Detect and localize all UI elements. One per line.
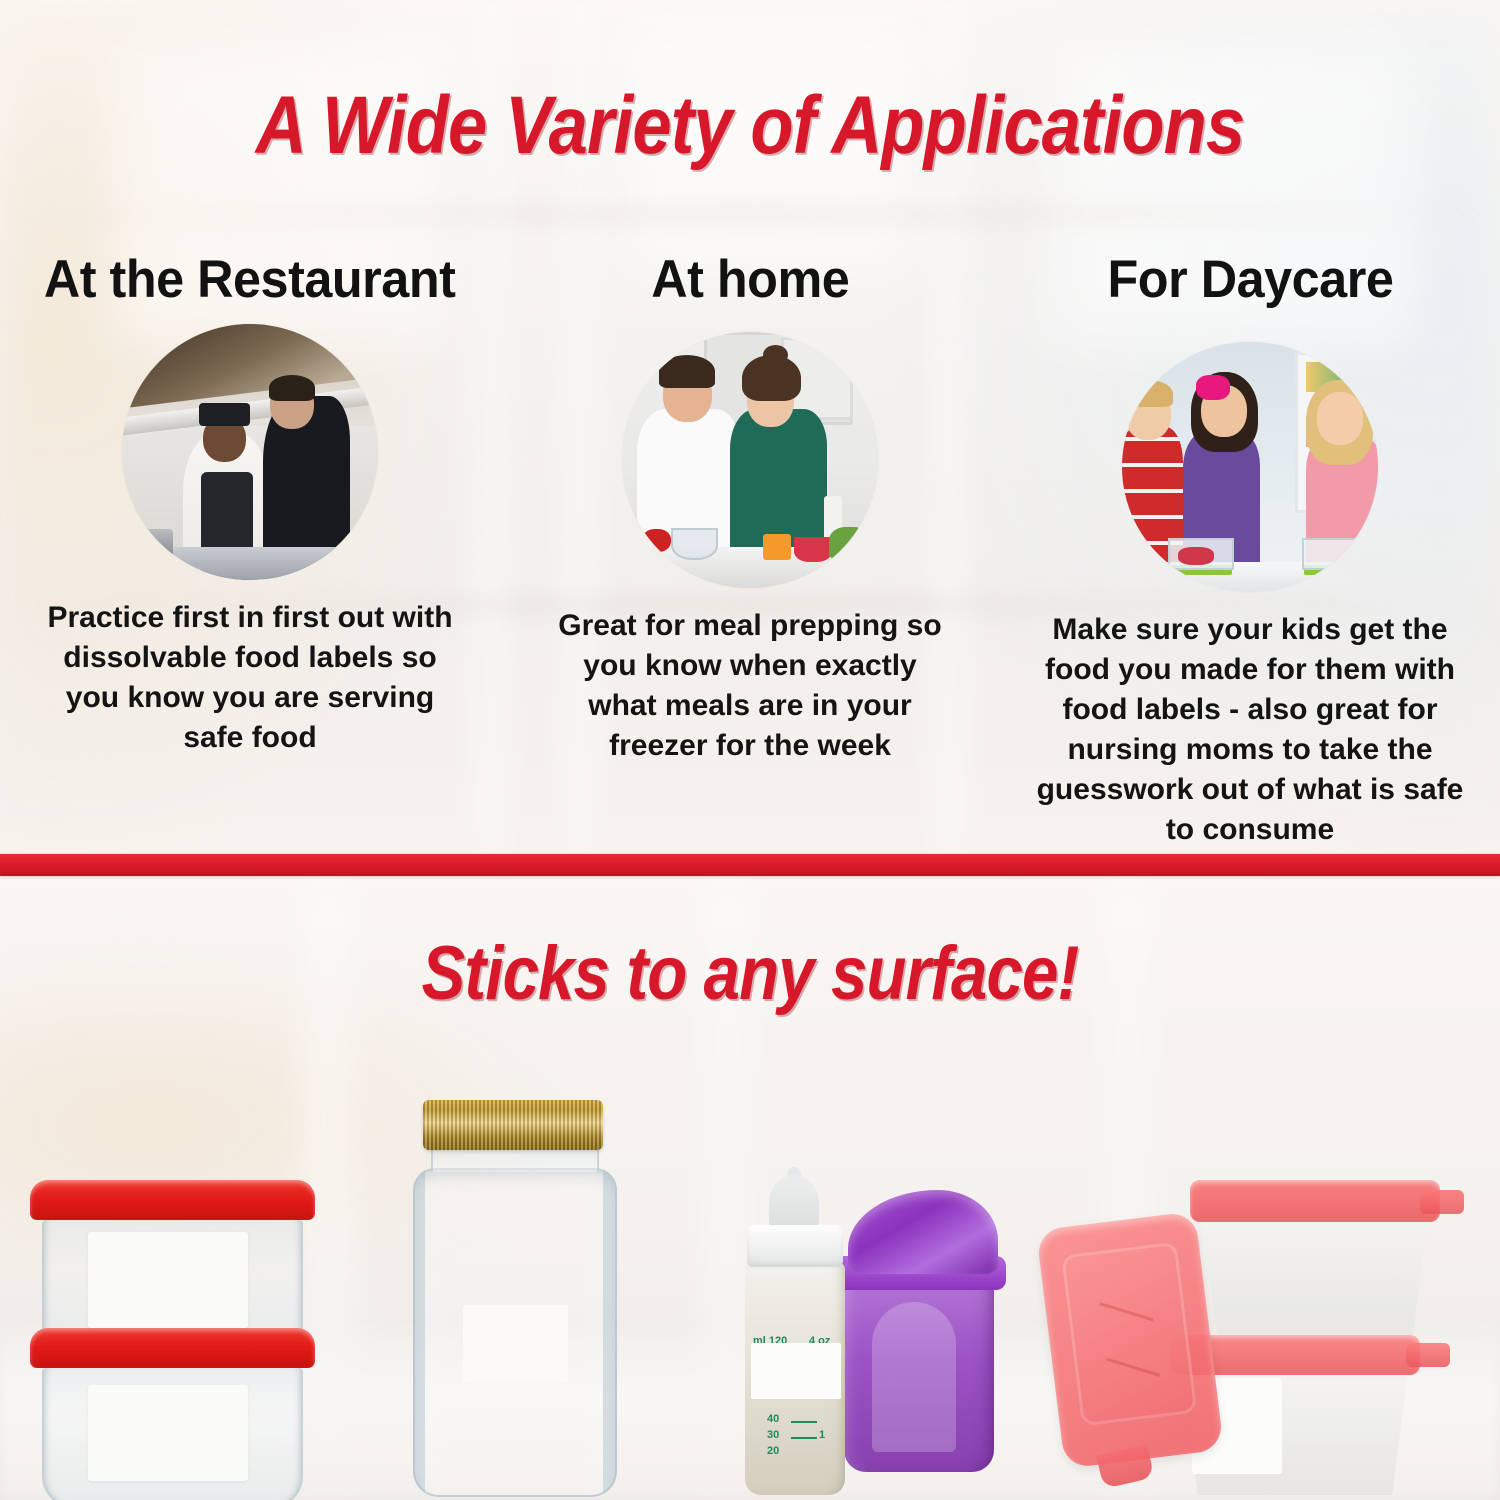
product-purple-pitcher <box>830 1190 1010 1490</box>
bottle-marking-1: 1 <box>819 1429 825 1441</box>
plastic-container-upper <box>1190 1180 1440 1340</box>
photo-restaurant <box>122 324 378 580</box>
bottle-tick-4 <box>791 1437 817 1439</box>
product-plastic-containers <box>1040 1160 1490 1500</box>
application-column-restaurant: At the Restaurant Practice first in firs… <box>0 250 500 850</box>
product-baby-bottle: ml 120 110 4 oz 40 30 20 1 <box>735 1175 855 1500</box>
page-title-secondary: Sticks to any surface! <box>105 928 1395 1020</box>
plastic-body-upper <box>1202 1218 1428 1340</box>
bottle-tick-3 <box>791 1421 817 1423</box>
application-column-daycare: For Daycare Make sure your kids get the … <box>1000 250 1500 850</box>
dissolvable-label-glass-2 <box>88 1385 248 1481</box>
lid-inset-panel <box>1061 1242 1197 1427</box>
background-shelf-line <box>0 210 1500 220</box>
product-stacked-glass-containers <box>30 1180 320 1500</box>
lid-ridge-2 <box>1106 1358 1160 1377</box>
applications-columns: At the Restaurant Practice first in firs… <box>0 250 1500 850</box>
dissolvable-label-glass-1 <box>88 1232 248 1328</box>
bottle-nipple <box>769 1175 819 1231</box>
pitcher-panel <box>872 1302 956 1452</box>
column-caption-home: Great for meal prepping so you know when… <box>550 606 950 766</box>
red-lid-top <box>30 1180 315 1220</box>
column-caption-restaurant: Practice first in first out with dissolv… <box>40 598 460 758</box>
lid-tab-upper <box>1420 1190 1464 1214</box>
column-title-home: At home <box>651 250 849 310</box>
red-snap-lid-upper <box>1190 1180 1440 1222</box>
gold-lid-icon <box>423 1100 603 1150</box>
column-title-restaurant: At the Restaurant <box>44 250 456 310</box>
bottle-marking-40: 40 <box>767 1413 779 1425</box>
infographic-page: A Wide Variety of Applications At the Re… <box>0 0 1500 1500</box>
column-caption-daycare: Make sure your kids get the food you mad… <box>1025 610 1475 850</box>
page-title-primary: A Wide Variety of Applications <box>105 78 1395 174</box>
bottle-marking-20: 20 <box>767 1445 779 1457</box>
photo-home-scene <box>622 332 878 588</box>
photo-restaurant-scene <box>122 324 378 580</box>
detached-red-lid <box>1036 1211 1224 1469</box>
detached-lid-tab <box>1096 1444 1154 1489</box>
photo-home <box>622 332 878 588</box>
lid-tab-lower <box>1406 1343 1450 1367</box>
bottle-collar <box>747 1225 843 1267</box>
column-title-daycare: For Daycare <box>1107 250 1393 310</box>
product-square-mason-jar <box>405 1100 620 1500</box>
application-column-home: At home Great for meal prepping so you k… <box>500 250 1000 850</box>
bottle-marking-30: 30 <box>767 1429 779 1441</box>
dissolvable-label-jar <box>463 1305 568 1383</box>
photo-daycare-scene <box>1122 342 1378 592</box>
red-divider-band <box>0 854 1500 876</box>
dissolvable-label-bottle <box>751 1343 841 1399</box>
red-lid-bottom <box>30 1328 315 1368</box>
product-showcase-row: ml 120 110 4 oz 40 30 20 1 <box>0 1080 1500 1500</box>
lid-ridge-1 <box>1099 1302 1153 1321</box>
pitcher-spout <box>848 1190 998 1274</box>
photo-daycare <box>1122 342 1378 592</box>
